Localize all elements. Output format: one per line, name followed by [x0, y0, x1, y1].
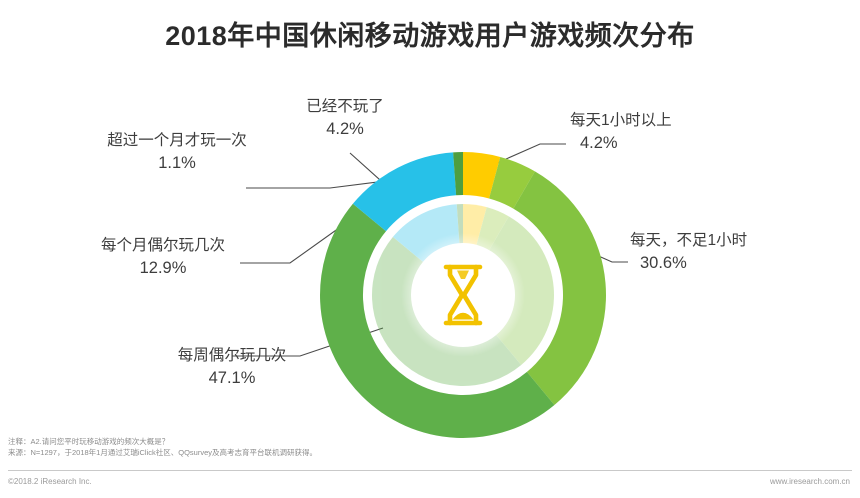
callout-month-some-value: 12.9% [48, 256, 278, 280]
page-title-text: 2018年中国休闲移动游戏用户游戏频次分布 [165, 14, 695, 53]
callout-month-some-label: 每个月偶尔玩几次 [48, 235, 278, 256]
footer-divider [8, 470, 852, 471]
footnote-source: 来源：N=1297，于2018年1月通过艾瑞iClick社区、QQsurvey及… [8, 447, 628, 458]
chart-page: 2018年中国休闲移动游戏用户游戏频次分布 [0, 0, 860, 498]
footnotes: 注释：A2.请问您平时玩移动游戏的频次大概是？ 来源：N=1297，于2018年… [8, 436, 628, 458]
callout-daily-plus: 每天1小时以上 4.2% [560, 110, 780, 155]
callout-daily-plus-value: 4.2% [560, 131, 780, 155]
footnote-note: 注释：A2.请问您平时玩移动游戏的频次大概是？ [8, 436, 628, 447]
callout-monthly-rare: 超过一个月才玩一次 1.1% [62, 130, 292, 175]
copyright-text: ©2018.2 iResearch Inc. [8, 477, 92, 486]
callout-daily-less-value: 30.6% [620, 251, 840, 275]
callout-daily-less: 每天，不足1小时 30.6% [620, 230, 840, 275]
website-url[interactable]: www.iresearch.com.cn [770, 477, 850, 486]
callout-week-some: 每周偶尔玩几次 47.1% [122, 345, 342, 390]
callout-daily-less-label: 每天，不足1小时 [620, 230, 840, 251]
callout-month-some: 每个月偶尔玩几次 12.9% [48, 235, 278, 280]
donut-chart: 已经不玩了 4.2% 超过一个月才玩一次 1.1% 每个月偶尔玩几次 12.9%… [0, 78, 860, 428]
callout-quit-label: 已经不玩了 [250, 96, 440, 117]
page-title: 2018年中国休闲移动游戏用户游戏频次分布 [0, 14, 860, 53]
callout-monthly-rare-label: 超过一个月才玩一次 [62, 130, 292, 151]
donut-svg [318, 150, 608, 440]
donut-graphic [318, 150, 608, 440]
callout-monthly-rare-value: 1.1% [62, 151, 292, 175]
callout-daily-plus-label: 每天1小时以上 [560, 110, 780, 131]
callout-week-some-label: 每周偶尔玩几次 [122, 345, 342, 366]
callout-week-some-value: 47.1% [122, 366, 342, 390]
